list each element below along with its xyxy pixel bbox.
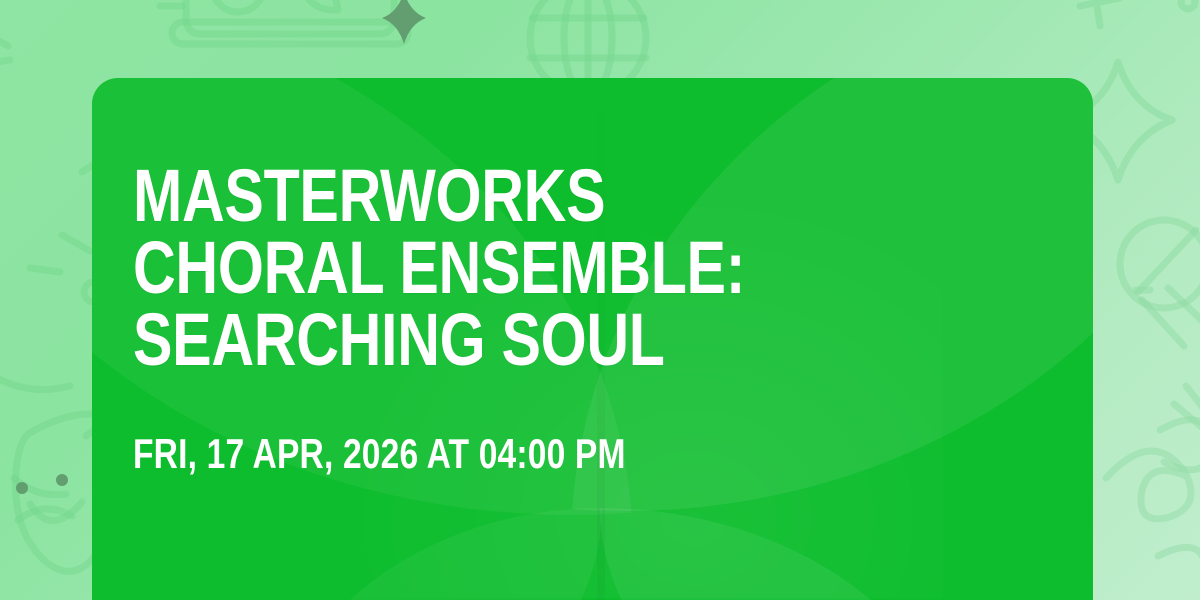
tag-icon	[1080, 0, 1120, 26]
event-card[interactable]: Masterworks Choral Ensemble: Searching S…	[92, 78, 1093, 600]
speech-strokes-icon	[0, 36, 10, 62]
event-title: Masterworks Choral Ensemble: Searching S…	[133, 160, 869, 375]
turntable-icon	[160, 0, 408, 44]
event-date: Fri, 17 Apr, 2026 at 04:00 PM	[133, 433, 869, 475]
poster-canvas: Masterworks Choral Ensemble: Searching S…	[0, 0, 1200, 600]
swirl-lines-icon	[1106, 420, 1200, 568]
petal-bottom-right	[600, 508, 960, 600]
microphone-icon	[1120, 220, 1200, 346]
petal-bottom-left	[272, 508, 602, 600]
dot-icon	[1181, 0, 1195, 9]
ticket-icon	[1174, 386, 1200, 434]
sparkle-small-icon	[382, 0, 426, 44]
gift-icon	[0, 370, 70, 390]
event-card-content: Masterworks Choral Ensemble: Searching S…	[133, 78, 1053, 475]
